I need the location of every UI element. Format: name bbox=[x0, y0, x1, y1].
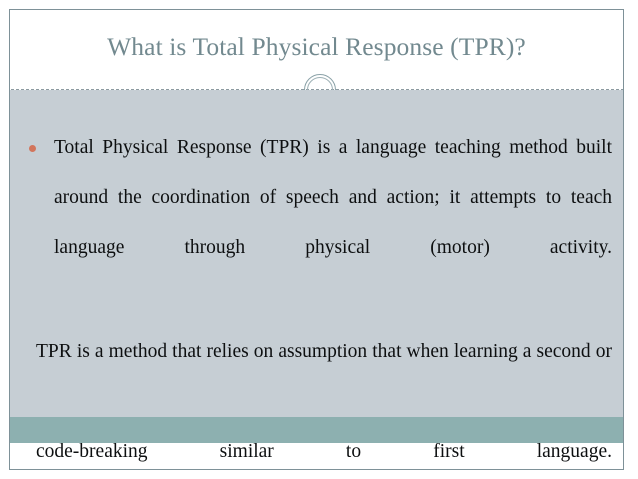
presentation-slide: What is Total Physical Response (TPR)? T… bbox=[0, 0, 638, 479]
slide-frame: What is Total Physical Response (TPR)? T… bbox=[9, 9, 624, 470]
body-paragraph-text: Total Physical Response (TPR) is a langu… bbox=[54, 137, 612, 258]
round-bullet-icon bbox=[29, 145, 36, 152]
slide-title: What is Total Physical Response (TPR)? bbox=[10, 31, 623, 63]
footer-spacer bbox=[10, 391, 623, 417]
footer-accent-band bbox=[10, 417, 623, 443]
slide-body: Total Physical Response (TPR) is a langu… bbox=[10, 90, 623, 443]
body-paragraph: Total Physical Response (TPR) is a langu… bbox=[26, 123, 612, 323]
